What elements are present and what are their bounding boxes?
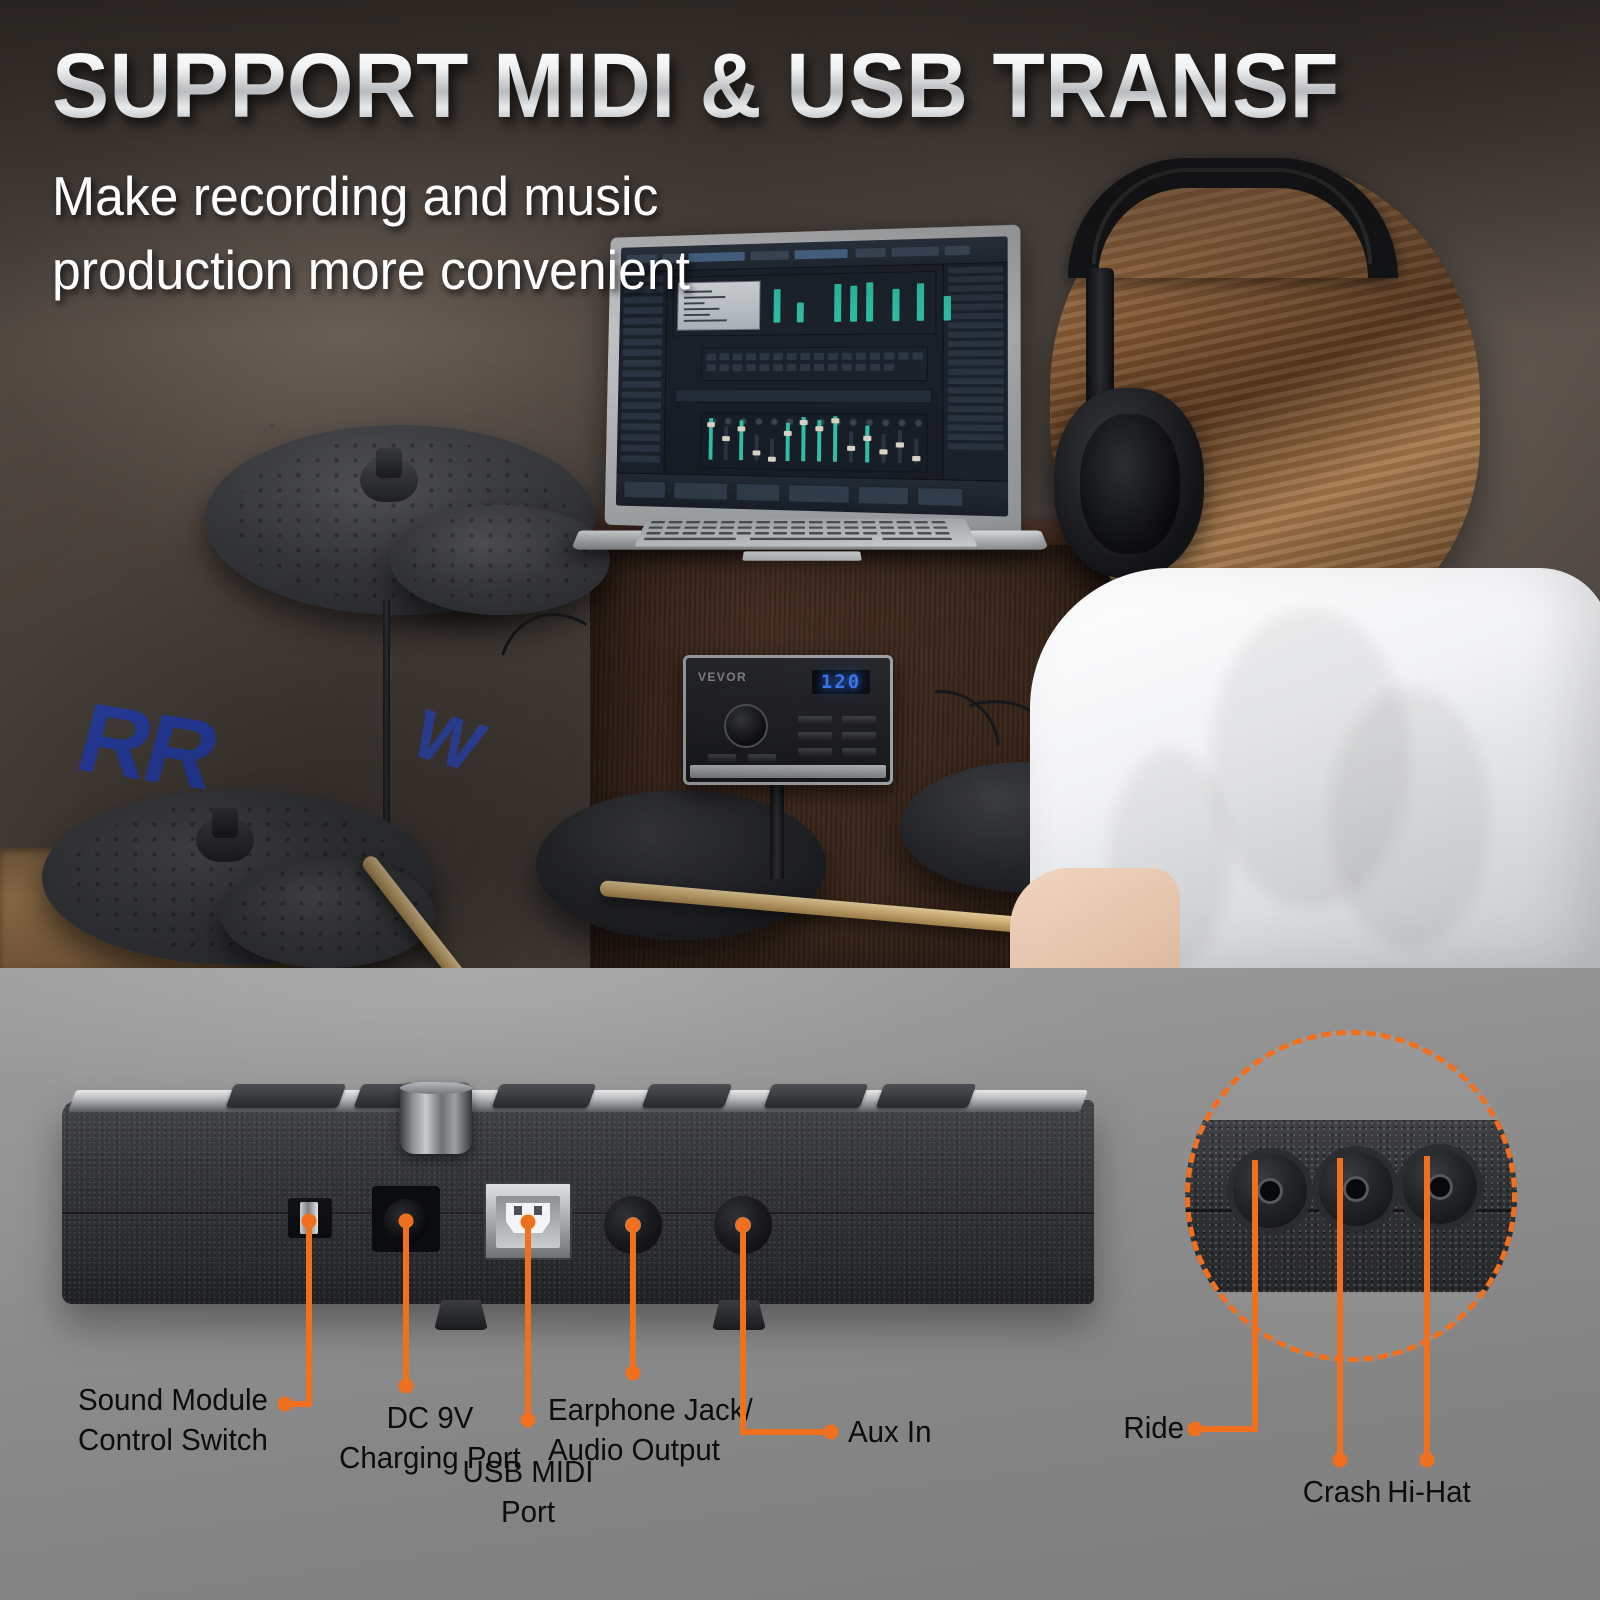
usb-pin xyxy=(514,1206,522,1215)
headline: SUPPORT MIDI & USB TRANSFER xyxy=(52,40,1335,132)
hi-hat-jack[interactable] xyxy=(1397,1144,1483,1230)
module-top-button[interactable] xyxy=(226,1084,347,1108)
module-top-button[interactable] xyxy=(876,1084,977,1108)
module-foot xyxy=(434,1300,488,1330)
callout-label-earphone-jack-audio-output: Earphone Jack/ Audio Output xyxy=(548,1390,767,1469)
callout-line-aux-in-h xyxy=(740,1429,828,1435)
callout-line-crash xyxy=(1337,1158,1343,1460)
callout-dot-hi-hat-label xyxy=(1420,1453,1435,1468)
callout-dot-earphone-label xyxy=(626,1366,641,1381)
callout-line-hi-hat xyxy=(1424,1156,1430,1460)
magnified-trigger-jacks-view xyxy=(1185,1030,1517,1362)
module-foot xyxy=(712,1300,766,1330)
subheadline-line-1: Make recording and music xyxy=(52,160,785,234)
product-marketing-image: VEVOR 120 xyxy=(0,0,1600,1600)
callout-label-hi-hat: Hi-Hat xyxy=(1369,1472,1489,1512)
module-top-button[interactable] xyxy=(764,1084,869,1108)
module-body xyxy=(62,1100,1094,1304)
module-top-button[interactable] xyxy=(492,1084,597,1108)
module-top-button[interactable] xyxy=(642,1084,733,1108)
callout-line-aux-in-v xyxy=(740,1225,746,1435)
hero-photo-panel: VEVOR 120 xyxy=(0,0,1600,968)
callout-line-dc-port xyxy=(403,1221,409,1386)
callout-line-usb-port xyxy=(525,1222,531,1420)
module-shell-seam xyxy=(62,1212,1094,1214)
callout-dot-dc-label xyxy=(399,1379,414,1394)
sound-module-rear-view xyxy=(62,1082,1094,1304)
module-volume-knob-rear[interactable] xyxy=(400,1082,472,1154)
subheadline-line-2: production more convenient xyxy=(52,234,785,308)
callout-dot-ride-label xyxy=(1188,1422,1203,1437)
ride-jack[interactable] xyxy=(1227,1148,1313,1234)
hero-vignette-overlay xyxy=(0,0,1600,968)
callout-dot-aux-in-label xyxy=(824,1425,839,1440)
usb-pin xyxy=(534,1206,542,1215)
callout-line-switch-v xyxy=(306,1221,312,1407)
callout-label-aux-in: Aux In xyxy=(848,1412,1038,1452)
callout-label-sound-module-control-switch: Sound Module Control Switch xyxy=(78,1380,278,1459)
callout-line-ride-v xyxy=(1252,1160,1258,1432)
crash-jack[interactable] xyxy=(1313,1146,1399,1232)
callout-dot-crash-label xyxy=(1333,1453,1348,1468)
callout-dot-switch-label xyxy=(278,1397,293,1412)
callout-dot-usb-label xyxy=(521,1413,536,1428)
callout-line-earphone-jack xyxy=(630,1225,636,1373)
callout-label-ride: Ride xyxy=(1102,1408,1184,1448)
subheadline: Make recording and music production more… xyxy=(52,160,785,307)
